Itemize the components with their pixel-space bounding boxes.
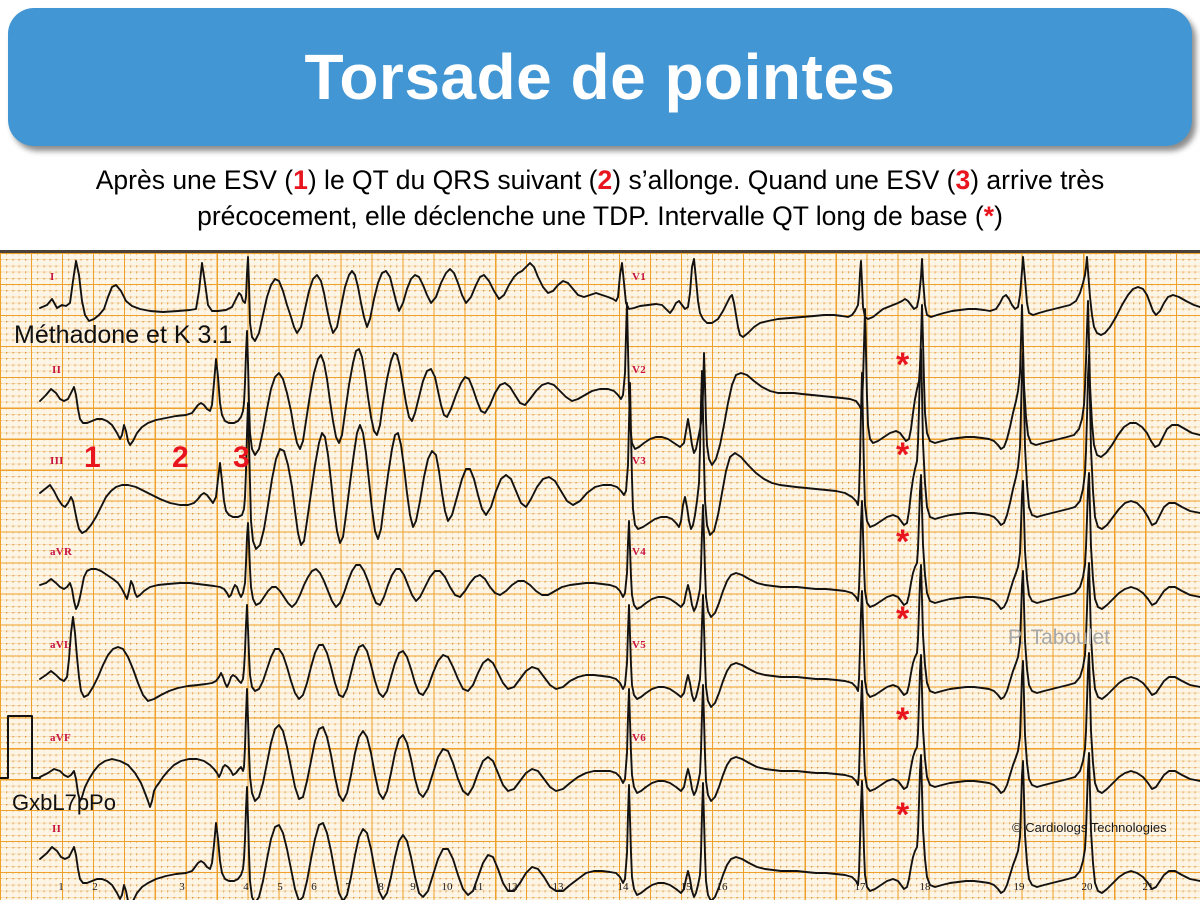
lead-label-avr: aVR: [50, 546, 72, 558]
title-banner: Torsade de pointes: [8, 8, 1192, 146]
beat-annotation-1: 1: [84, 443, 101, 473]
beat-annotation-2: 2: [172, 443, 189, 473]
caption-text: Après une ESV (1) le QT du QRS suivant (…: [14, 162, 1186, 234]
page-title: Torsade de pointes: [304, 45, 895, 109]
lead-label-v4: V4: [632, 546, 646, 558]
ruler-tick-9: 9: [410, 881, 416, 893]
qt-star-marker-3: *: [896, 525, 909, 559]
ecg-calibration-pulse: [0, 716, 40, 778]
caption-ref-1: 1: [293, 165, 308, 195]
ecg-trace-row-4: [40, 473, 1200, 617]
ruler-tick-2: 2: [92, 881, 98, 893]
ecg-waveform-traces: [0, 253, 1200, 900]
caption-seg-2b: ): [994, 201, 1003, 231]
lead-label-v5: V5: [632, 639, 646, 651]
note-methadone-potassium: Méthadone et K 3.1: [14, 321, 232, 350]
caption-seg-2a: précocement, elle déclenche une TDP. Int…: [197, 201, 984, 231]
lead-label-iii: III: [50, 455, 64, 467]
caption-ref-2: 2: [598, 165, 613, 195]
ecg-trace-row-6: [40, 653, 1200, 807]
lead-label-v3: V3: [632, 455, 646, 467]
lead-label-v6: V6: [632, 732, 646, 744]
ruler-tick-13: 13: [553, 881, 564, 893]
ruler-tick-3: 3: [179, 881, 185, 893]
ruler-tick-14: 14: [618, 881, 629, 893]
qt-star-marker-6: *: [896, 798, 909, 832]
beat-annotation-3: 3: [233, 443, 250, 473]
ruler-tick-8: 8: [378, 881, 384, 893]
ruler-tick-12: 12: [507, 881, 518, 893]
ecg-panel: I II III aVR aVL aVF II V1 V2 V3 V4 V5 V…: [0, 250, 1200, 900]
lead-label-avf: aVF: [50, 732, 71, 744]
watermark-copyright: © Cardiologs Technologies: [1012, 820, 1167, 835]
qt-star-marker-2: *: [896, 438, 909, 472]
ruler-tick-15: 15: [681, 881, 692, 893]
ruler-tick-17: 17: [855, 881, 866, 893]
ruler-tick-5: 5: [277, 881, 283, 893]
watermark-author: P. Taboulet: [1008, 626, 1110, 650]
ruler-tick-6: 6: [311, 881, 317, 893]
ruler-tick-20: 20: [1082, 881, 1093, 893]
ruler-tick-11: 11: [473, 881, 484, 893]
qt-star-marker-5: *: [896, 703, 909, 737]
qt-star-marker-4: *: [896, 602, 909, 636]
lead-label-v2: V2: [632, 364, 646, 376]
caption-seg-1b: ) le QT du QRS suivant (: [308, 165, 598, 195]
caption-ref-star: *: [984, 201, 994, 231]
caption-seg-1a: Après une ESV (: [96, 165, 293, 195]
ruler-tick-16: 16: [717, 881, 728, 893]
ruler-tick-7: 7: [345, 881, 351, 893]
lead-label-i: I: [50, 271, 55, 283]
lead-label-avl: aVL: [50, 639, 72, 651]
ruler-tick-10: 10: [442, 881, 453, 893]
ruler-tick-18: 18: [920, 881, 931, 893]
ruler-tick-4: 4: [243, 881, 249, 893]
caption-line2: précocement, elle déclenche une TDP. Int…: [197, 201, 1003, 231]
caption-seg-1d: ) arrive très: [970, 165, 1104, 195]
lead-label-ii: II: [52, 364, 61, 376]
ruler-tick-1: 1: [58, 881, 64, 893]
note-record-code: GxbL7pPo: [12, 790, 116, 816]
lead-label-v1: V1: [632, 271, 646, 283]
ruler-tick-19: 19: [1014, 881, 1025, 893]
caption-seg-1c: ) s’allonge. Quand une ESV (: [612, 165, 955, 195]
ruler-tick-21: 21: [1143, 881, 1154, 893]
caption-line1: Après une ESV (1) le QT du QRS suivant (…: [96, 165, 1105, 195]
qt-star-marker-1: *: [896, 348, 909, 382]
caption-ref-3: 3: [956, 165, 971, 195]
lead-label-rhythm-ii: II: [52, 823, 61, 835]
